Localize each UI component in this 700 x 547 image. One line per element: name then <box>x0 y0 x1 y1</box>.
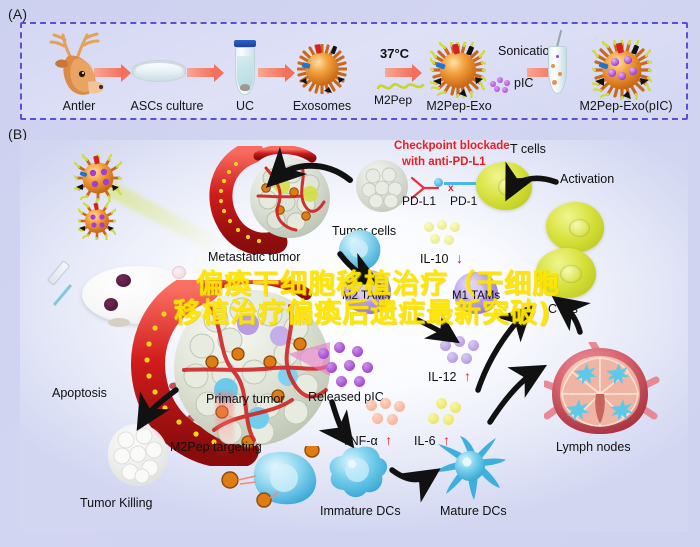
stage-label-exosomes: Exosomes <box>286 99 358 113</box>
sonication-tube-particle <box>551 64 555 68</box>
stage-label-asc-culture: ASCs culture <box>114 99 220 113</box>
sonication-tube-particle <box>552 80 557 85</box>
pic-dot-cluster <box>490 77 512 93</box>
panel-b-arrows <box>20 140 688 532</box>
antler-deer-illustration <box>44 30 106 100</box>
tube-cap <box>234 40 256 47</box>
stage-label-m2pep-exo: M2Pep-Exo <box>420 99 498 113</box>
panel-b: Metastatic tumor Tumor cells Checkpoint … <box>20 140 688 532</box>
arrow-exosomes-to-m2pepexo <box>385 68 413 77</box>
petri-dish-medium <box>136 63 182 77</box>
stage-label-antler: Antler <box>34 99 124 113</box>
stage-label-uc: UC <box>218 99 272 113</box>
stage-label-m2pep-exo-pic: M2Pep-Exo(pIC) <box>562 99 690 113</box>
sonication-tube-pic <box>556 55 559 58</box>
sonication-tube-particle <box>558 72 562 76</box>
m2pep-label: M2Pep <box>374 93 412 107</box>
pic-label: pIC <box>514 76 533 90</box>
m2pep-exosome-pic-particle <box>592 40 652 100</box>
sonication-tube <box>548 46 567 94</box>
temperature-label: 37°C <box>380 46 409 61</box>
tube-pellet <box>240 84 250 91</box>
m2pep-exosome-particle <box>430 42 486 98</box>
arrow-uc-to-exosomes <box>258 68 286 77</box>
figure-root: (A) <box>0 0 700 547</box>
m2pep-squiggle <box>377 80 425 94</box>
exosome-particle <box>297 44 347 94</box>
panel-a-tag: (A) <box>8 6 27 22</box>
arrow-asc-to-uc <box>187 68 215 77</box>
panel-a: Antler ASCs culture UC <box>20 22 688 120</box>
